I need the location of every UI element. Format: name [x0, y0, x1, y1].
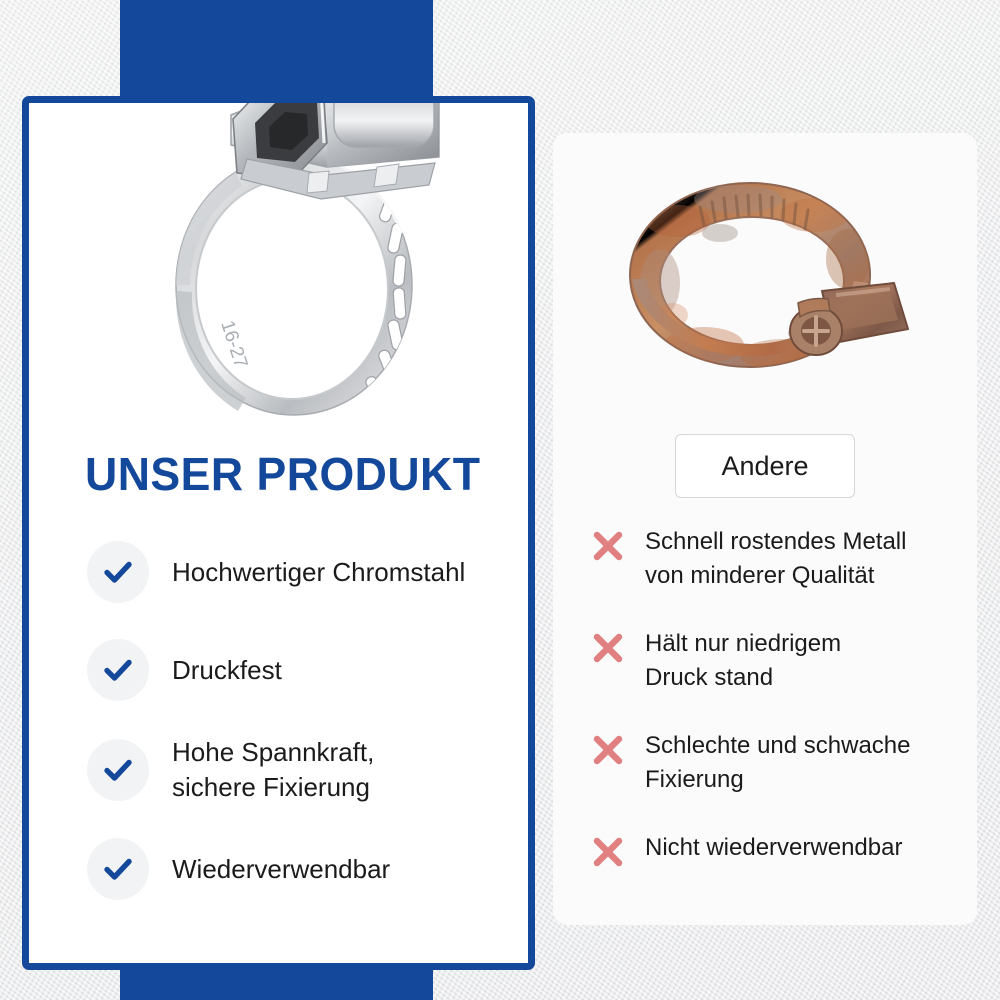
list-item-label: Nicht wiederverwendbar — [645, 831, 902, 865]
list-item: Schlechte und schwache Fixierung — [585, 729, 965, 797]
check-icon — [87, 639, 149, 701]
other-product-card: Andere Schnell rostendes Metall von mind… — [553, 133, 977, 925]
list-item: Hält nur niedrigem Druck stand — [585, 627, 965, 695]
page-title: UNSER PRODUKT — [85, 447, 481, 501]
cross-icon — [585, 527, 631, 565]
list-item: Nicht wiederverwendbar — [585, 831, 965, 871]
check-icon — [87, 838, 149, 900]
rusty-hose-clamp-image — [608, 163, 928, 403]
stainless-steel-hose-clamp-image: 16-27 — [129, 103, 459, 443]
list-item-label: Schlechte und schwache Fixierung — [645, 729, 911, 797]
pros-list: Hochwertiger Chromstahl Druckfest — [87, 539, 507, 902]
our-product-card-inner: 16-27 UNSER P — [29, 103, 528, 963]
our-product-card: 16-27 UNSER P — [22, 96, 535, 970]
list-item-label: Schnell rostendes Metall von minderer Qu… — [645, 525, 906, 593]
list-item-label: Druckfest — [172, 653, 282, 688]
list-item-label: Hochwertiger Chromstahl — [172, 555, 465, 590]
list-item-label: Hohe Spannkraft, sichere Fixierung — [172, 735, 374, 804]
status-badge: Andere — [675, 434, 855, 498]
cross-icon — [585, 731, 631, 769]
list-item: Hohe Spannkraft, sichere Fixierung — [87, 735, 507, 804]
comparison-infographic: 16-27 UNSER P — [0, 0, 1000, 1000]
check-icon — [87, 541, 149, 603]
list-item: Wiederverwendbar — [87, 836, 507, 902]
list-item-label: Hält nur niedrigem Druck stand — [645, 627, 841, 695]
cross-icon — [585, 629, 631, 667]
cross-icon — [585, 833, 631, 871]
list-item: Hochwertiger Chromstahl — [87, 539, 507, 605]
list-item: Druckfest — [87, 637, 507, 703]
list-item: Schnell rostendes Metall von minderer Qu… — [585, 525, 965, 593]
cons-list: Schnell rostendes Metall von minderer Qu… — [585, 525, 965, 871]
check-icon — [87, 739, 149, 801]
list-item-label: Wiederverwendbar — [172, 852, 390, 887]
